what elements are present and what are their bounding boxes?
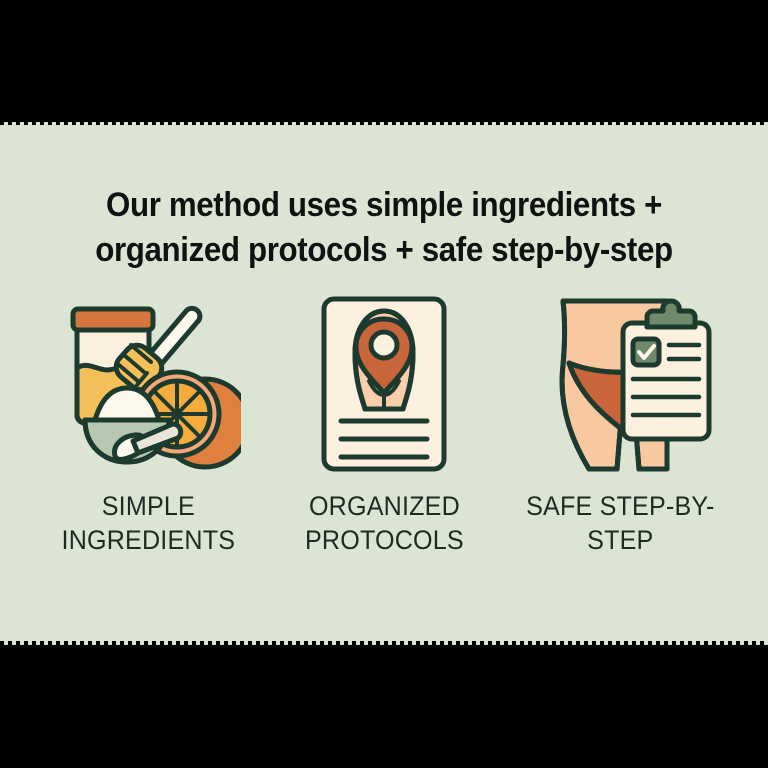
feature-caption-simple-ingredients: SIMPLE INGREDIENTS bbox=[61, 489, 235, 557]
document-card-body-location-pin-icon bbox=[291, 293, 477, 475]
headline-line-1: Our method uses simple ingredients + bbox=[62, 183, 706, 228]
caption-line-2: INGREDIENTS bbox=[61, 523, 235, 557]
letterbox-bar-top bbox=[0, 0, 768, 125]
feature-caption-safe-step-by-step: SAFE STEP-BY- STEP bbox=[526, 489, 714, 557]
page-title: Our method uses simple ingredients + org… bbox=[62, 183, 706, 273]
slide-canvas: Our method uses simple ingredients + org… bbox=[0, 0, 768, 768]
checkbox-checked bbox=[633, 339, 659, 365]
feature-column-organized-protocols: ORGANIZED PROTOCOLS bbox=[266, 293, 502, 557]
feature-column-safe-step-by-step: SAFE STEP-BY- STEP bbox=[502, 293, 738, 557]
slide-content-area: Our method uses simple ingredients + org… bbox=[0, 125, 768, 643]
body-bikini-clipboard-checklist-icon bbox=[527, 293, 713, 475]
clipboard-checklist bbox=[623, 301, 709, 439]
caption-line-1: SIMPLE bbox=[61, 489, 235, 523]
caption-line-1: SAFE STEP-BY- bbox=[526, 489, 714, 523]
caption-line-1: ORGANIZED bbox=[305, 489, 464, 523]
feature-caption-organized-protocols: ORGANIZED PROTOCOLS bbox=[305, 489, 464, 557]
feature-column-simple-ingredients: SIMPLE INGREDIENTS bbox=[30, 293, 266, 557]
caption-line-2: STEP bbox=[526, 523, 714, 557]
letterbox-bar-bottom bbox=[0, 645, 768, 768]
caption-line-2: PROTOCOLS bbox=[305, 523, 464, 557]
honey-jar-dipper-orange-sugar-bowl-icon bbox=[55, 293, 241, 475]
headline-line-2: organized protocols + safe step-by-step bbox=[62, 228, 706, 273]
feature-columns: SIMPLE INGREDIENTS bbox=[0, 293, 768, 557]
